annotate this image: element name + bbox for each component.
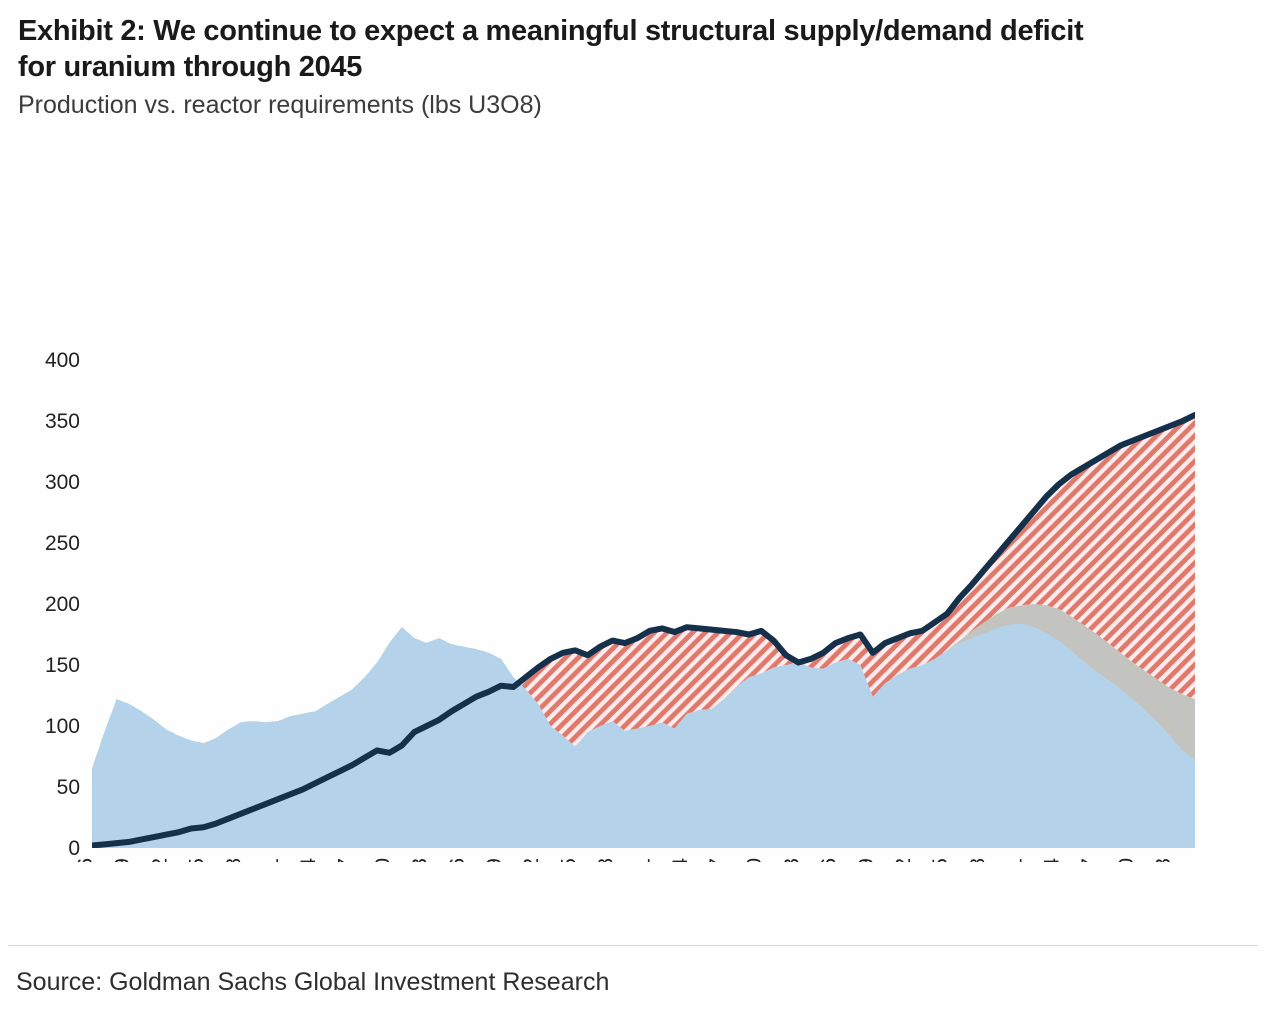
x-tick-label: 1971 — [260, 858, 283, 862]
figure-header: Exhibit 2: We continue to expect a meani… — [0, 0, 1266, 122]
x-tick-label: 2016 — [818, 858, 841, 862]
x-tick-label: 1983 — [409, 858, 432, 862]
footer-divider — [8, 945, 1258, 946]
y-tick-label: 50 — [57, 776, 80, 799]
x-tick-label: 2031 — [1003, 858, 1026, 862]
x-tick-label: 1989 — [483, 858, 506, 862]
x-tick-label: 2040 — [1115, 858, 1138, 862]
page-title: Exhibit 2: We continue to expect a meani… — [18, 14, 1108, 85]
x-tick-label: 2037 — [1078, 858, 1101, 862]
y-tick-label: 150 — [45, 654, 80, 677]
x-tick-label: 2001 — [632, 858, 655, 862]
x-tick-label: 1992 — [520, 858, 543, 862]
x-tick-label: 2013 — [780, 858, 803, 862]
x-tick-label: 1959 — [111, 858, 134, 862]
x-tick-label: 1962 — [148, 858, 171, 862]
y-axis-tick-labels: 050100150200250300350400 — [45, 349, 80, 860]
y-tick-label: 100 — [45, 715, 80, 738]
x-tick-label: 2019 — [855, 858, 878, 862]
y-tick-label: 0 — [68, 837, 80, 860]
exhibit-figure: Exhibit 2: We continue to expect a meani… — [0, 0, 1266, 1026]
x-tick-label: 1998 — [595, 858, 618, 862]
x-tick-label: 2004 — [669, 857, 692, 861]
y-tick-label: 200 — [45, 593, 80, 616]
y-tick-label: 400 — [45, 349, 80, 372]
x-tick-label: 1965 — [186, 858, 209, 862]
plot-series-group — [92, 414, 1195, 847]
x-tick-label: 2025 — [929, 858, 952, 862]
x-tick-label: 2034 — [1041, 857, 1064, 861]
x-tick-label: 1974 — [297, 857, 320, 861]
chart-area: 050100150200250300350400 195619591962196… — [0, 132, 1266, 862]
y-tick-label: 250 — [45, 532, 80, 555]
y-tick-label: 300 — [45, 471, 80, 494]
x-tick-label: 1977 — [334, 858, 357, 862]
x-tick-label: 2022 — [892, 858, 915, 862]
source-note: Source: Goldman Sachs Global Investment … — [16, 968, 609, 997]
x-tick-label: 2007 — [706, 858, 729, 862]
x-tick-label: 2028 — [966, 858, 989, 862]
x-tick-label: 1968 — [223, 858, 246, 862]
x-tick-label: 1986 — [446, 858, 469, 862]
supply-demand-chart: 050100150200250300350400 195619591962196… — [0, 132, 1266, 862]
x-tick-label: 1956 — [74, 858, 97, 862]
x-tick-label: 2010 — [743, 858, 766, 862]
y-tick-label: 350 — [45, 410, 80, 433]
x-tick-label: 2043 — [1152, 858, 1175, 862]
x-tick-label: 1995 — [557, 858, 580, 862]
page-subtitle: Production vs. reactor requirements (lbs… — [18, 90, 1248, 121]
x-tick-label: 1980 — [371, 858, 394, 862]
x-axis-tick-labels: 1956195919621965196819711974197719801983… — [74, 857, 1175, 861]
